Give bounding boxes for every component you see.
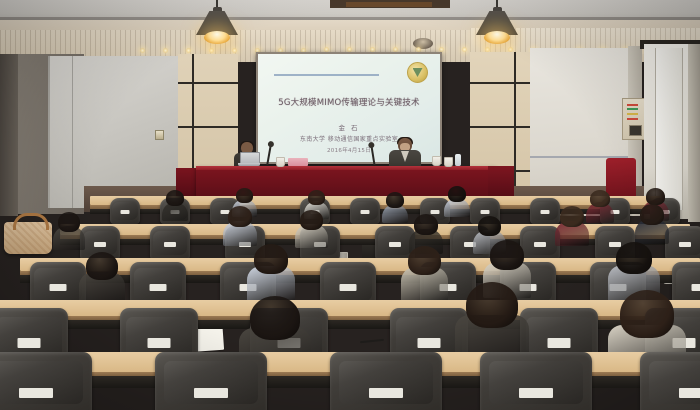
seat-number-tag	[148, 338, 171, 348]
seat-number-tag	[679, 388, 700, 398]
audience-head	[250, 296, 300, 340]
audience-head	[478, 216, 501, 236]
seat-number-tag	[519, 388, 553, 398]
seat-number-tag	[19, 388, 53, 398]
audience-head	[620, 290, 674, 338]
audience-member	[250, 296, 300, 340]
lamp-bulb	[484, 31, 510, 44]
door-panel[interactable]	[655, 48, 683, 210]
audience-member	[448, 186, 466, 202]
water-bottle	[455, 154, 461, 166]
seat-number-tag	[692, 284, 700, 291]
panel-display	[629, 125, 642, 136]
left-wall-shadow	[0, 54, 18, 216]
water-cup-left	[276, 157, 285, 167]
audience-head	[414, 214, 438, 235]
audience-head	[466, 282, 518, 328]
audience-head	[236, 188, 253, 203]
seat-number-tag	[50, 284, 67, 291]
seat-number-tag	[389, 242, 401, 247]
tan-handbag	[4, 222, 52, 254]
red-chair	[606, 158, 636, 200]
audience-member	[58, 212, 80, 232]
audience-member	[386, 192, 404, 208]
seat-number-tag	[679, 242, 691, 247]
audience-member	[490, 240, 524, 270]
audience-member	[86, 252, 118, 280]
slide-divider-rule	[274, 74, 379, 76]
audience-head	[308, 190, 325, 205]
seat-number-tag	[361, 210, 370, 214]
audience-member	[590, 190, 610, 207]
slide-title: 5G大规模MIMO传输理论与关键技术	[258, 96, 440, 108]
right-edge-wall	[688, 44, 700, 222]
audience-member	[646, 188, 665, 205]
audience-head	[58, 212, 80, 232]
audience-head	[386, 192, 404, 208]
laptop	[238, 152, 260, 166]
audience-member	[620, 290, 674, 338]
audience-head	[640, 204, 664, 225]
seat-number-tag	[541, 210, 550, 214]
audience-head	[228, 206, 252, 227]
seat-number-tag	[369, 388, 403, 398]
audience-member	[228, 206, 252, 227]
audience-member	[414, 214, 438, 235]
audience-head	[166, 190, 184, 206]
chair	[480, 352, 592, 410]
pen-right	[360, 339, 384, 343]
pendant-lamp-right	[476, 0, 518, 46]
audience-member	[478, 216, 501, 236]
wall-control-panel[interactable]	[622, 98, 646, 140]
audience-member	[300, 210, 323, 230]
audience-member	[560, 206, 584, 227]
university-emblem-icon	[407, 62, 428, 83]
lamp-bulb	[204, 31, 230, 44]
audience-head	[408, 246, 441, 275]
water-cup-right-2	[444, 157, 453, 167]
seat-number-tag	[164, 242, 176, 247]
audience-member	[236, 188, 253, 203]
audience-head	[560, 206, 584, 227]
ceiling-recess-inner	[346, 2, 432, 7]
audience-head	[490, 240, 524, 270]
audience-head	[646, 188, 665, 205]
chair	[330, 352, 442, 410]
seat-number-tag	[121, 210, 130, 214]
pink-box	[288, 158, 308, 166]
audience-member	[254, 244, 288, 274]
chair	[640, 352, 700, 410]
audience-head	[300, 210, 323, 230]
chair	[150, 226, 190, 260]
pendant-lamp-left	[196, 0, 238, 46]
light-switch[interactable]	[155, 130, 164, 140]
audience-member	[616, 242, 652, 274]
audience-member	[166, 190, 184, 206]
seat-number-tag	[94, 242, 106, 247]
audience-head	[590, 190, 610, 207]
audience-head	[448, 186, 466, 202]
seat-number-tag	[548, 338, 571, 348]
audience-head	[254, 244, 288, 274]
chair	[350, 198, 380, 224]
downlight	[232, 48, 237, 53]
seat-number-tag	[18, 338, 41, 348]
head-table-right-extension	[488, 166, 514, 196]
chair	[155, 352, 267, 410]
seat-number-tag	[481, 210, 490, 214]
audience-member	[308, 190, 325, 205]
audience-member	[640, 204, 664, 225]
chair	[110, 198, 140, 224]
audience-head	[86, 252, 118, 280]
seat-number-tag	[194, 388, 228, 398]
audience-member	[466, 282, 518, 328]
seat-number-tag	[534, 242, 546, 247]
slide-author: 金 石	[258, 122, 440, 132]
chair	[665, 226, 700, 260]
lecture-hall-photo: 5G大规模MIMO传输理论与关键技术 金 石 东南大学 移动通信国家重点实验室 …	[0, 0, 700, 410]
seat-number-tag	[150, 284, 167, 291]
seat-number-tag	[340, 284, 357, 291]
audience-head	[616, 242, 652, 274]
water-cup-right	[432, 156, 441, 166]
chair	[0, 352, 92, 410]
audience-member	[408, 246, 441, 275]
seat-number-tag	[418, 338, 441, 348]
chair	[530, 198, 560, 224]
